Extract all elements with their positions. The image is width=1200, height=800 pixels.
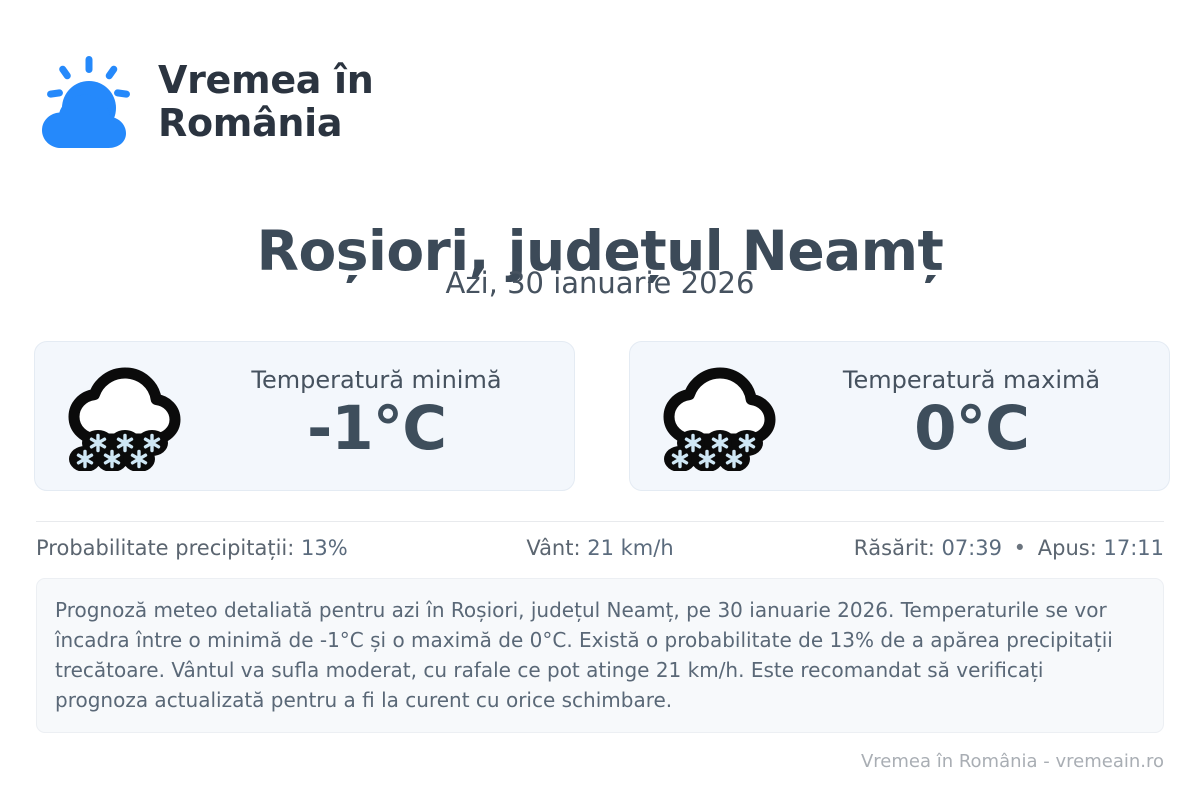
card-temperature-min: Temperatură minimă -1°C [34,341,575,491]
forecast-description-text: Prognoză meteo detaliată pentru azi în R… [55,595,1141,715]
temperature-min-value: -1°C [307,397,446,461]
temperature-max-value: 0°C [914,397,1029,461]
sunset-value: 17:11 [1103,536,1164,560]
precipitation-value: 13% [301,536,348,560]
temperature-cards: Temperatură minimă -1°C [34,341,1170,491]
card-temperature-max: Temperatură maximă 0°C [629,341,1170,491]
brand-name: Vremea în România [158,59,374,144]
card-body: Temperatură maximă 0°C [788,367,1155,465]
stats-row: Probabilitate precipitații: 13% Vânt: 21… [36,536,1164,560]
stat-wind: Vânt: 21 km/h [412,536,788,560]
sunrise-label: Răsărit: [854,536,935,560]
sunrise-value: 07:39 [941,536,1002,560]
page-subtitle: Azi, 30 ianuarie 2026 [0,266,1200,300]
wind-label: Vânt: [526,536,580,560]
snow-cloud-icon [656,361,788,471]
stat-precipitation: Probabilitate precipitații: 13% [36,536,412,560]
brand-logo[interactable]: Vremea în România [36,52,374,152]
temperature-min-label: Temperatură minimă [251,367,501,395]
card-body: Temperatură minimă -1°C [193,367,560,465]
weather-forecast-page: Vremea în România Roșiori, județul Neamț… [0,0,1200,800]
stats-divider [36,521,1164,522]
forecast-description-panel: Prognoză meteo detaliată pentru azi în R… [36,578,1164,733]
separator-dot: • [1009,536,1031,560]
sun-behind-cloud-icon [36,52,140,152]
wind-value: 21 km/h [587,536,673,560]
sunset-label: Apus: [1038,536,1097,560]
footer-credit: Vremea în România - vremeain.ro [861,751,1164,772]
stat-sun-times: Răsărit: 07:39 • Apus: 17:11 [788,536,1164,560]
temperature-max-label: Temperatură maximă [843,367,1100,395]
snow-cloud-icon [61,361,193,471]
precipitation-label: Probabilitate precipitații: [36,536,294,560]
